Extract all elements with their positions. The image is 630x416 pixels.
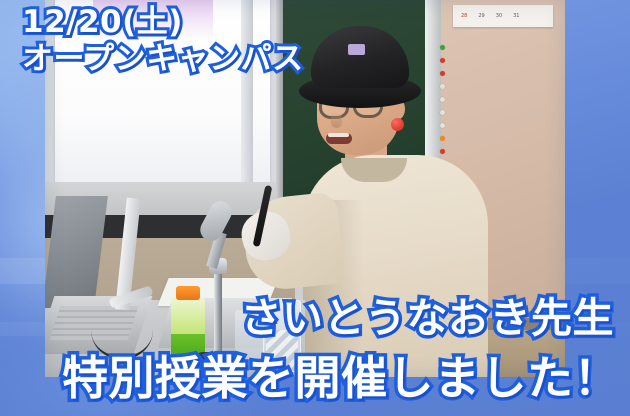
projector-screen-edge <box>241 0 253 194</box>
wall-calendar: 28 29 30 31 <box>453 5 553 27</box>
pushpin-column <box>438 45 448 175</box>
pushpin <box>440 45 445 50</box>
calendar-day: 29 <box>478 13 484 19</box>
calendar-day: 30 <box>496 13 502 19</box>
calendar-day: 31 <box>513 13 519 19</box>
pushpin <box>440 84 445 89</box>
microphone-pole <box>214 270 222 362</box>
red-earring <box>391 118 404 131</box>
pushpin <box>440 97 445 102</box>
caption-line-1: さいとうなおき先生 <box>241 297 615 340</box>
speaker-teeth <box>328 133 349 137</box>
pushpin <box>440 149 445 154</box>
speaker-nose <box>331 112 342 128</box>
pushpin <box>440 71 445 76</box>
pushpin <box>440 123 445 128</box>
bottle-cap <box>176 286 200 300</box>
bucket-hat-tag <box>348 44 365 55</box>
pushpin <box>440 110 445 115</box>
caption-line-2: 特別授業を開催しました！ <box>62 355 620 403</box>
headline-line-2: オープンキャンパス <box>22 43 304 75</box>
calendar-day: 28 <box>461 13 467 19</box>
headline-line-1: 12/20(土) <box>22 6 183 38</box>
pushpin <box>440 58 445 63</box>
pushpin <box>440 136 445 141</box>
banner-image: 28 29 30 31 <box>0 0 630 416</box>
